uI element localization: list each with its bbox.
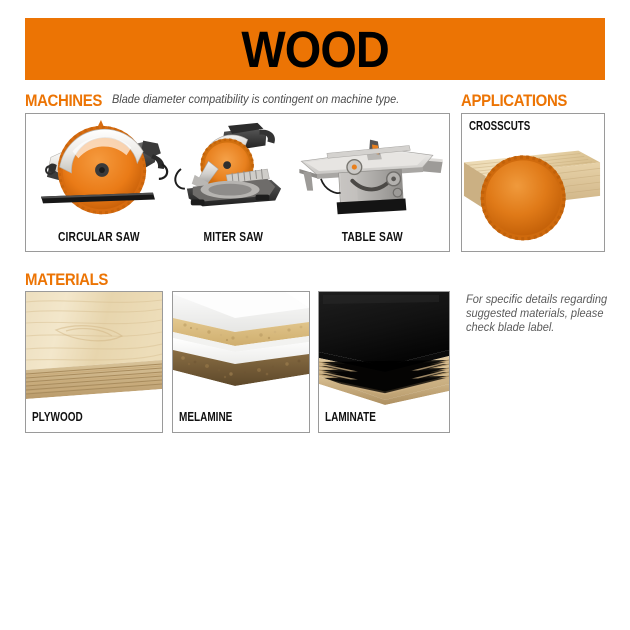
- material-label: PLYWOOD: [32, 410, 83, 424]
- crosscut-blade-icon: [462, 132, 604, 250]
- plywood-swatch-icon: [26, 292, 162, 405]
- machine-label: CIRCULAR SAW: [58, 230, 140, 244]
- machines-note: Blade diameter compatibility is continge…: [112, 94, 399, 106]
- application-label: CROSSCUTS: [469, 119, 530, 133]
- circular-saw-icon: [26, 118, 172, 225]
- machine-label: MITER SAW: [203, 230, 263, 244]
- machine-label: TABLE SAW: [342, 230, 403, 244]
- miter-saw-icon: [172, 118, 294, 225]
- applications-panel: CROSSCUTS: [461, 113, 605, 252]
- material-item-laminate[interactable]: LAMINATE: [318, 291, 450, 433]
- material-item-melamine[interactable]: MELAMINE: [172, 291, 310, 433]
- material-label: MELAMINE: [179, 410, 232, 424]
- machines-heading: MACHINES: [25, 91, 102, 111]
- machines-panel: CIRCULAR SAW: [25, 113, 450, 252]
- page-title: WOOD: [241, 24, 388, 75]
- materials-note: For specific details regarding suggested…: [466, 293, 610, 335]
- melamine-swatch-icon: [173, 292, 309, 405]
- materials-heading: MATERIALS: [25, 270, 108, 290]
- machine-item-miter-saw[interactable]: MITER SAW: [172, 114, 294, 251]
- header-banner: WOOD: [25, 18, 605, 80]
- machine-item-table-saw[interactable]: TABLE SAW: [294, 114, 451, 251]
- machine-item-circular-saw[interactable]: CIRCULAR SAW: [26, 114, 172, 251]
- applications-heading: APPLICATIONS: [461, 91, 567, 111]
- material-label: LAMINATE: [325, 410, 376, 424]
- table-saw-icon: [294, 118, 451, 225]
- material-item-plywood[interactable]: PLYWOOD: [25, 291, 163, 433]
- laminate-swatch-icon: [319, 292, 449, 405]
